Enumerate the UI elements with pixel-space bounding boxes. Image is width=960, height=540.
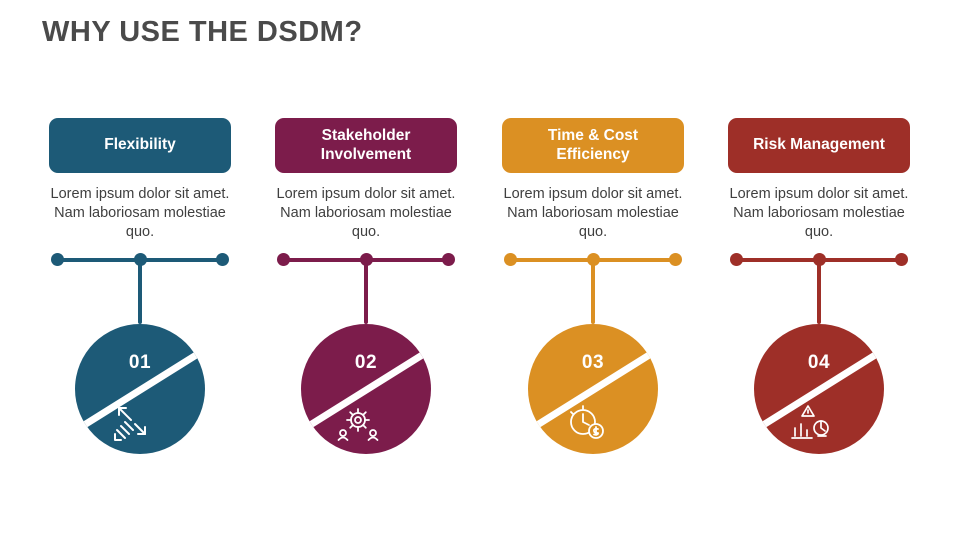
step-header-1[interactable]: Flexibility (49, 118, 231, 173)
step-header-label-3: Time & Cost Efficiency (510, 127, 676, 164)
step-description-4: Lorem ipsum dolor sit amet. Nam laborios… (728, 185, 910, 242)
step-description-1: Lorem ipsum dolor sit amet. Nam laborios… (49, 185, 231, 242)
step-header-label-1: Flexibility (104, 136, 176, 154)
step-number-4: 04 (754, 352, 884, 374)
connector-dot-center-3 (587, 253, 600, 266)
step-header-2[interactable]: Stakeholder Involvement (275, 118, 457, 173)
step-circle-wrap-3: 03 (502, 324, 684, 454)
step-description-3: Lorem ipsum dolor sit amet. Nam laborios… (502, 185, 684, 242)
connector-vertical-bar-1 (138, 258, 142, 324)
connector-vertical-bar-4 (817, 258, 821, 324)
connector-dot-right-1 (216, 253, 229, 266)
step-circle-wrap-4: 04 (728, 324, 910, 454)
connector-dot-left-2 (277, 253, 290, 266)
step-description-2: Lorem ipsum dolor sit amet. Nam laborios… (275, 185, 457, 242)
connector-dot-center-4 (813, 253, 826, 266)
gear-people-icon (335, 400, 381, 442)
page-title: WHY USE THE DSDM? (42, 16, 363, 49)
step-circle-wrap-1: 01 (49, 324, 231, 454)
connector-dot-left-4 (730, 253, 743, 266)
connector-vertical-bar-3 (591, 258, 595, 324)
connector-dot-center-1 (134, 253, 147, 266)
connector-dot-left-3 (504, 253, 517, 266)
step-number-2: 02 (301, 352, 431, 374)
slide-canvas: WHY USE THE DSDM? Flexibility Lorem ipsu… (0, 0, 960, 540)
connector-dot-right-4 (895, 253, 908, 266)
step-connector-3 (502, 250, 684, 324)
step-connector-4 (728, 250, 910, 324)
step-header-4[interactable]: Risk Management (728, 118, 910, 173)
connector-dot-center-2 (360, 253, 373, 266)
step-column-1: Flexibility Lorem ipsum dolor sit amet. … (49, 118, 231, 454)
step-header-3[interactable]: Time & Cost Efficiency (502, 118, 684, 173)
connector-dot-right-3 (669, 253, 682, 266)
clock-coin-icon (562, 400, 608, 442)
step-column-4: Risk Management Lorem ipsum dolor sit am… (728, 118, 910, 454)
step-number-1: 01 (75, 352, 205, 374)
step-header-label-4: Risk Management (753, 136, 885, 154)
connector-dot-right-2 (442, 253, 455, 266)
step-connector-1 (49, 250, 231, 324)
step-circle-wrap-2: 02 (275, 324, 457, 454)
step-header-label-2: Stakeholder Involvement (283, 127, 449, 164)
step-column-2: Stakeholder Involvement Lorem ipsum dolo… (275, 118, 457, 454)
connector-vertical-bar-2 (364, 258, 368, 324)
risk-chart-icon (788, 400, 834, 442)
arrows-flexibility-icon (109, 400, 155, 442)
step-number-3: 03 (528, 352, 658, 374)
connector-dot-left-1 (51, 253, 64, 266)
step-column-3: Time & Cost Efficiency Lorem ipsum dolor… (502, 118, 684, 454)
step-connector-2 (275, 250, 457, 324)
